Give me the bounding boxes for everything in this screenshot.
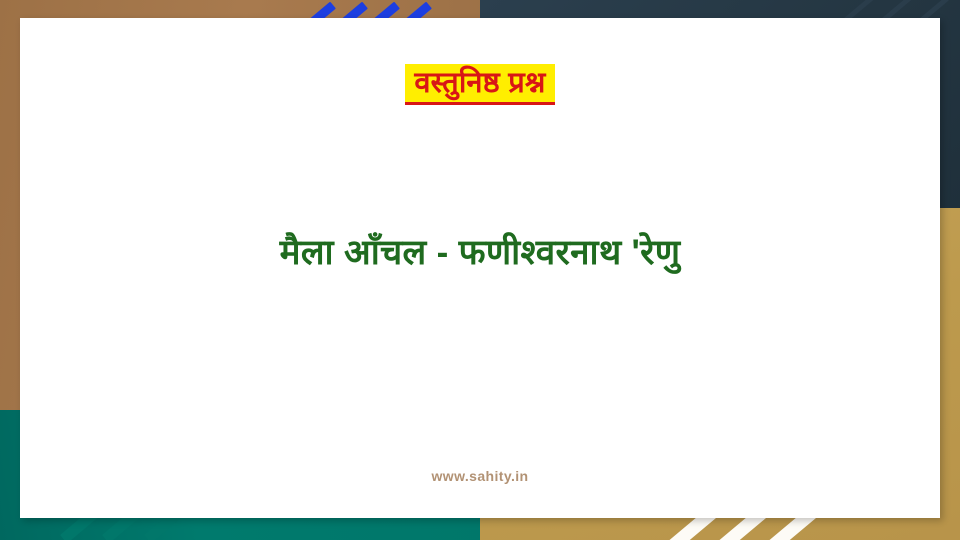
- slide-content-card: वस्तुनिष्ठ प्रश्न मैला आँचल - फणीश्वरनाथ…: [20, 18, 940, 518]
- slide-subject-heading: मैला आँचल - फणीश्वरनाथ 'रेणु: [280, 230, 681, 276]
- slide-subject-container: मैला आँचल - फणीश्वरनाथ 'रेणु: [20, 230, 940, 276]
- website-watermark: www.sahity.in: [432, 468, 529, 484]
- slide-footer-container: www.sahity.in: [20, 468, 940, 486]
- slide-title: वस्तुनिष्ठ प्रश्न: [405, 64, 554, 105]
- slide-title-container: वस्तुनिष्ठ प्रश्न: [20, 64, 940, 105]
- presentation-slide: वस्तुनिष्ठ प्रश्न मैला आँचल - फणीश्वरनाथ…: [0, 0, 960, 540]
